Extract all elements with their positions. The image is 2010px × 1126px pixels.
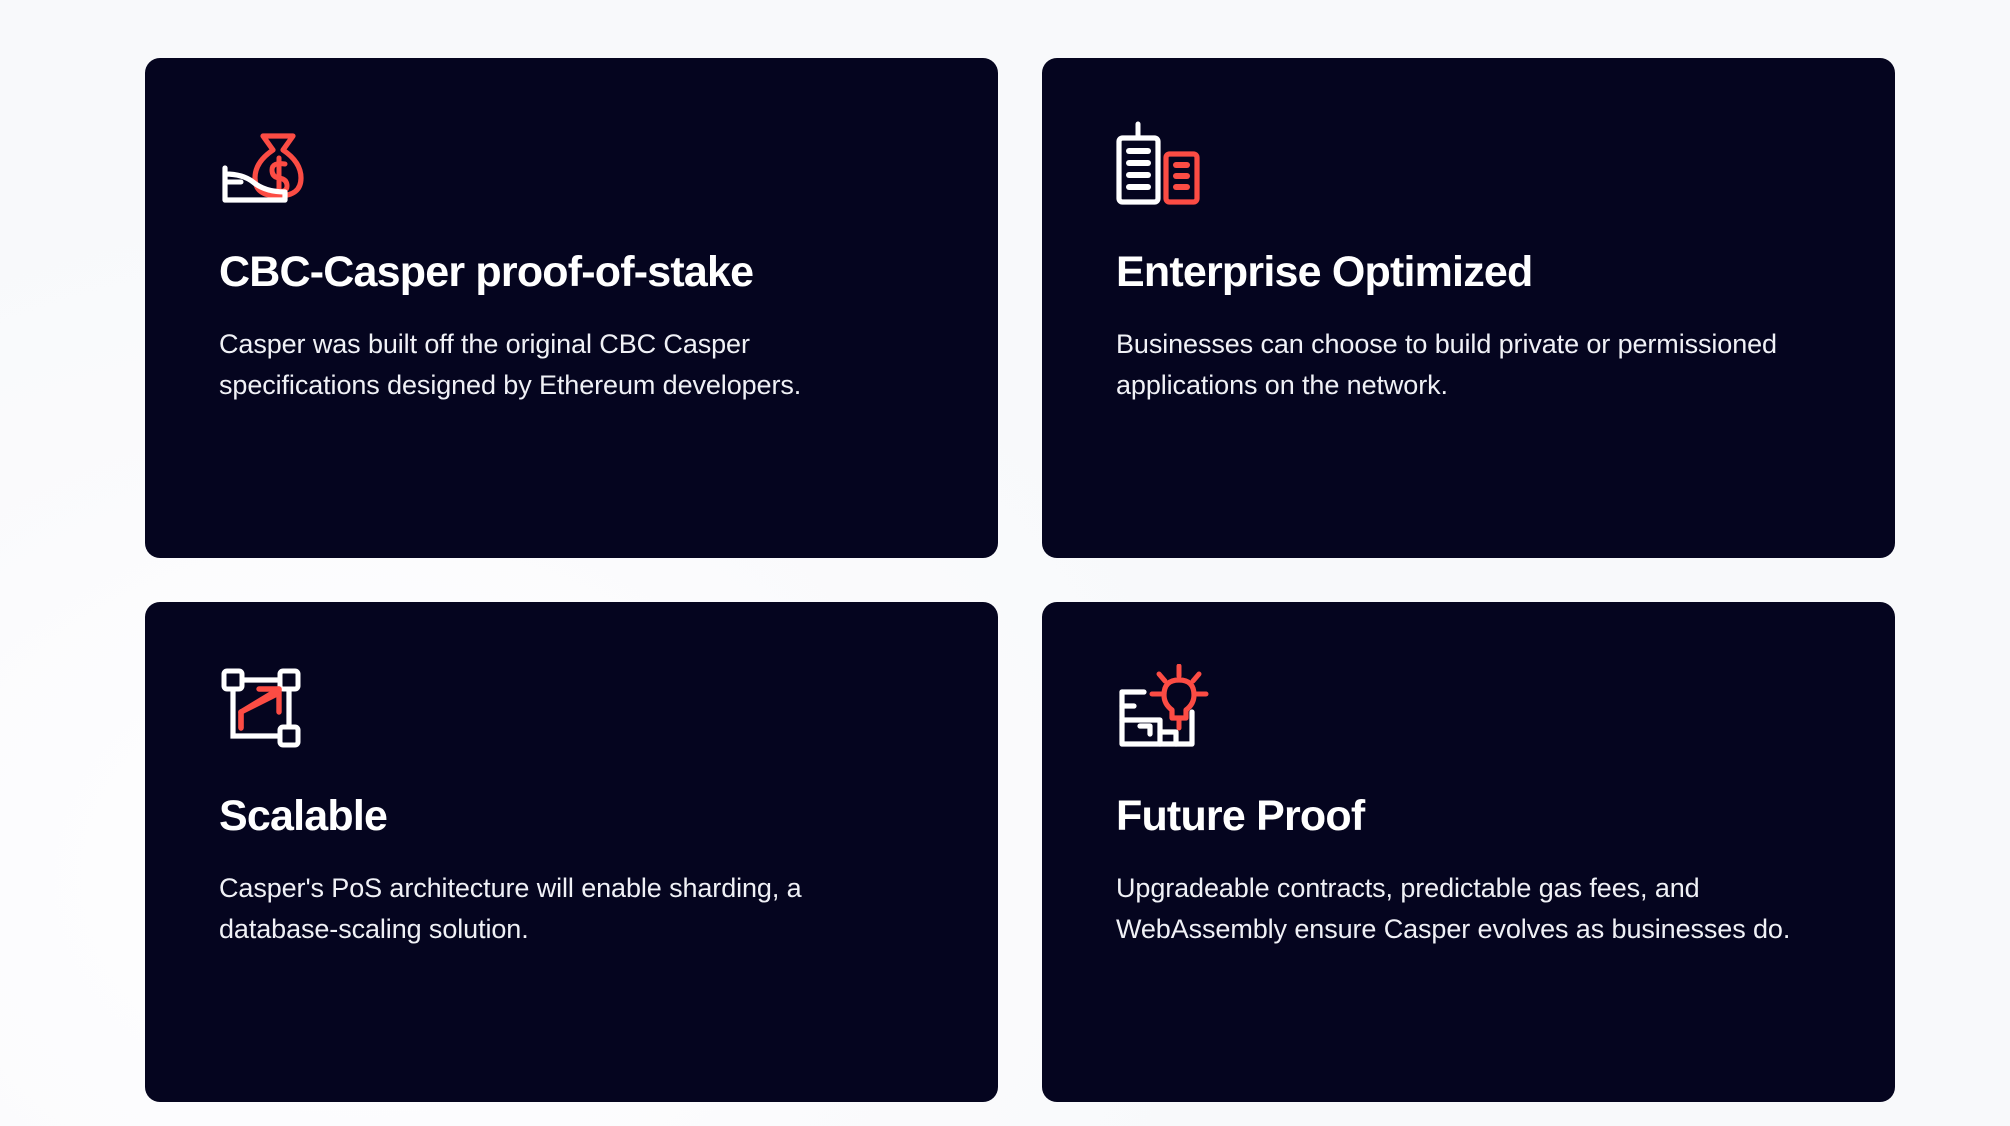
feature-card-title: CBC-Casper proof-of-stake (219, 248, 924, 296)
feature-card-cbc-casper-proof-of-stake[interactable]: CBC-Casper proof-of-stake Casper was bui… (145, 58, 998, 558)
feature-card-description: Upgradeable contracts, predictable gas f… (1116, 868, 1816, 950)
office-buildings-icon (1116, 120, 1212, 206)
feature-card-description: Casper's PoS architecture will enable sh… (219, 868, 909, 950)
scale-resize-arrow-icon (219, 664, 315, 750)
feature-card-scalable[interactable]: Scalable Casper's PoS architecture will … (145, 602, 998, 1102)
feature-card-description: Businesses can choose to build private o… (1116, 324, 1816, 406)
lightbulb-blueprint-icon (1116, 664, 1212, 750)
feature-card-description: Casper was built off the original CBC Ca… (219, 324, 909, 406)
feature-card-enterprise-optimized[interactable]: Enterprise Optimized Businesses can choo… (1042, 58, 1895, 558)
feature-card-future-proof[interactable]: Future Proof Upgradeable contracts, pred… (1042, 602, 1895, 1102)
money-bag-stake-icon (219, 120, 315, 206)
feature-card-title: Enterprise Optimized (1116, 248, 1821, 296)
feature-card-title: Scalable (219, 792, 924, 840)
feature-card-title: Future Proof (1116, 792, 1821, 840)
features-section: CBC-Casper proof-of-stake Casper was bui… (0, 0, 2010, 1126)
feature-card-grid: CBC-Casper proof-of-stake Casper was bui… (145, 58, 1895, 1102)
